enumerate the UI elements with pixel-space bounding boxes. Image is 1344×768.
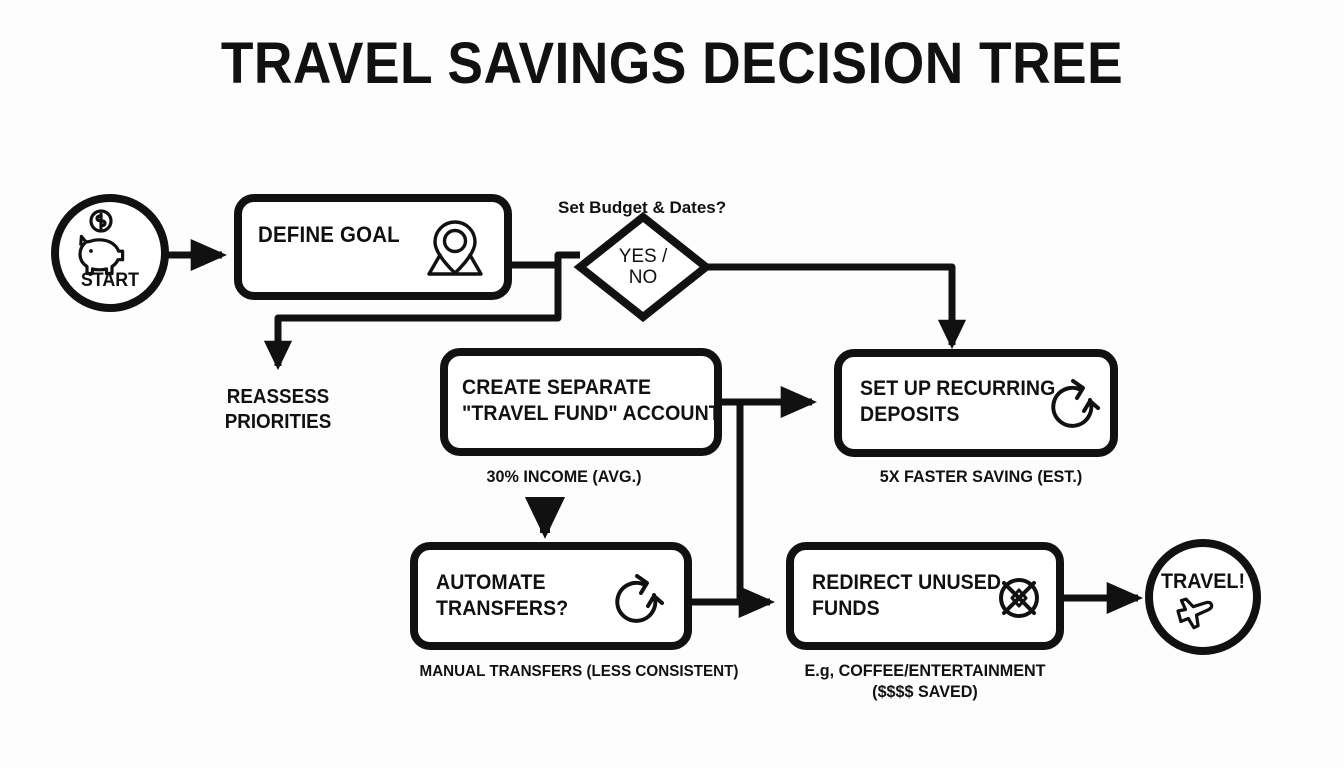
recurring-deposits-label: SET UP RECURRING DEPOSITS xyxy=(860,376,1055,427)
travel-label: TRAVEL! xyxy=(1156,570,1250,594)
decision-question: Set Budget & Dates? xyxy=(558,198,726,218)
reassess-priorities-label: REASSESS PRIORITIES xyxy=(184,385,372,435)
decision-label: YES / NO xyxy=(588,247,698,289)
redirect-funds-label: REDIRECT UNUSED FUNDS xyxy=(812,570,1001,621)
automate-transfers-caption: MANUAL TRANSFERS (LESS CONSISTENT) xyxy=(413,662,746,682)
start-label: START xyxy=(63,270,157,292)
edge-decision-to-recurring xyxy=(706,267,952,345)
flowchart-canvas: TRAVEL SAVINGS DECISION TREE xyxy=(0,0,1344,768)
define-goal-label: DEFINE GOAL xyxy=(258,222,400,249)
redirect-funds-caption: E.g, COFFEE/ENTERTAINMENT ($$$$ SAVED) xyxy=(787,660,1063,703)
automate-transfers-label: AUTOMATE TRANSFERS? xyxy=(436,570,568,621)
create-account-label: CREATE SEPARATE "TRAVEL FUND" ACCOUNT xyxy=(462,375,721,426)
travel-node[interactable] xyxy=(1149,543,1257,651)
recurring-deposits-caption: 5X FASTER SAVING (EST.) xyxy=(853,466,1110,487)
create-account-caption: 30% INCOME (AVG.) xyxy=(450,466,678,487)
